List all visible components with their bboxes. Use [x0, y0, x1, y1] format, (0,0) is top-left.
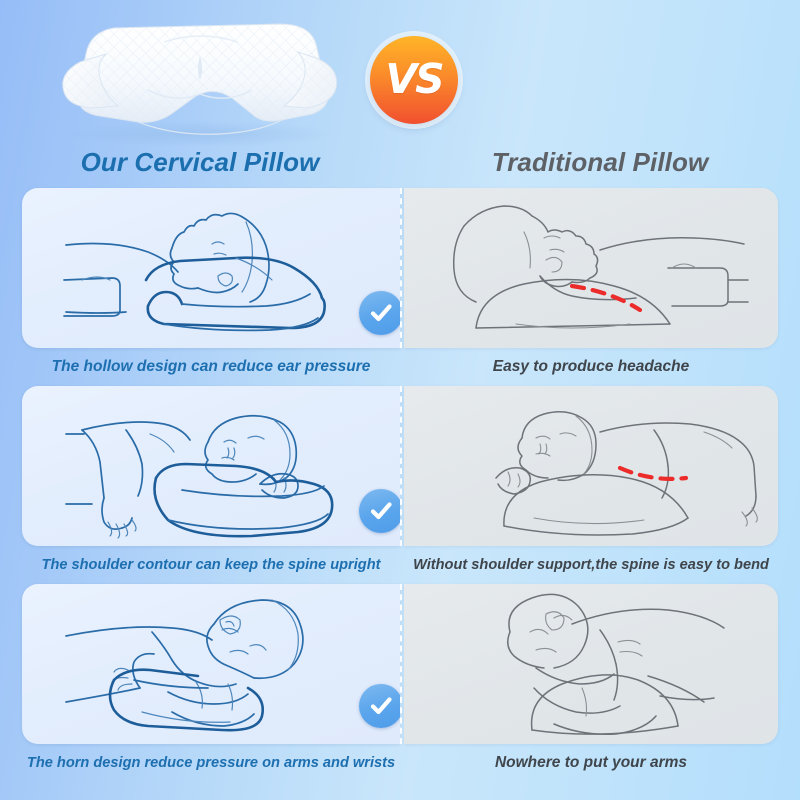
- hero-section: Our Cervical Pillow: [0, 0, 800, 186]
- status-check-icon: [359, 489, 400, 533]
- comparison-row: The shoulder contour can keep the spine …: [0, 386, 800, 584]
- bad-caption: Easy to produce headache: [404, 351, 778, 383]
- good-caption: The hollow design can reduce ear pressur…: [22, 351, 400, 383]
- panel-divider: [400, 584, 402, 744]
- versus-badge-label: VS: [385, 59, 442, 100]
- side-sleeper-arms-tucked-illustration: [22, 584, 400, 744]
- status-check-icon: [359, 684, 400, 728]
- bad-caption: Nowhere to put your arms: [404, 747, 778, 779]
- side-sleeper-on-cervical-pillow-illustration: [22, 386, 400, 546]
- traditional-pillow-title: Traditional Pillow: [400, 147, 800, 178]
- bad-panel: [404, 386, 778, 546]
- comparison-row: The hollow design can reduce ear pressur…: [0, 188, 800, 386]
- our-pillow-title: Our Cervical Pillow: [0, 147, 400, 178]
- back-sleeper-flat-pillow-illustration: [404, 188, 778, 348]
- panel-divider: [400, 386, 402, 546]
- versus-badge: VS: [370, 36, 458, 124]
- contoured-cervical-pillow-image: [44, 2, 356, 148]
- hero-cell-our-pillow: Our Cervical Pillow: [0, 0, 400, 186]
- good-caption: The horn design reduce pressure on arms …: [22, 747, 400, 779]
- side-sleeper-traditional-pillow-illustration: [404, 386, 778, 546]
- good-caption: The shoulder contour can keep the spine …: [22, 549, 400, 581]
- bad-panel: [404, 584, 778, 744]
- bad-panel: [404, 188, 778, 348]
- pillow-comparison-infographic: Our Cervical Pillow: [0, 0, 800, 800]
- good-panel: [22, 584, 400, 744]
- back-sleeper-on-cervical-pillow-illustration: [22, 188, 400, 348]
- comparison-rows: The hollow design can reduce ear pressur…: [0, 186, 800, 800]
- good-panel: [22, 188, 400, 348]
- hero-cell-traditional-pillow: Traditional Pillow: [400, 0, 800, 186]
- comparison-row: The horn design reduce pressure on arms …: [0, 584, 800, 782]
- good-panel: [22, 386, 400, 546]
- status-check-icon: [359, 291, 400, 335]
- bad-caption: Without shoulder support,the spine is ea…: [404, 549, 778, 581]
- side-sleeper-arms-cramped-illustration: [404, 584, 778, 744]
- panel-divider: [400, 188, 402, 348]
